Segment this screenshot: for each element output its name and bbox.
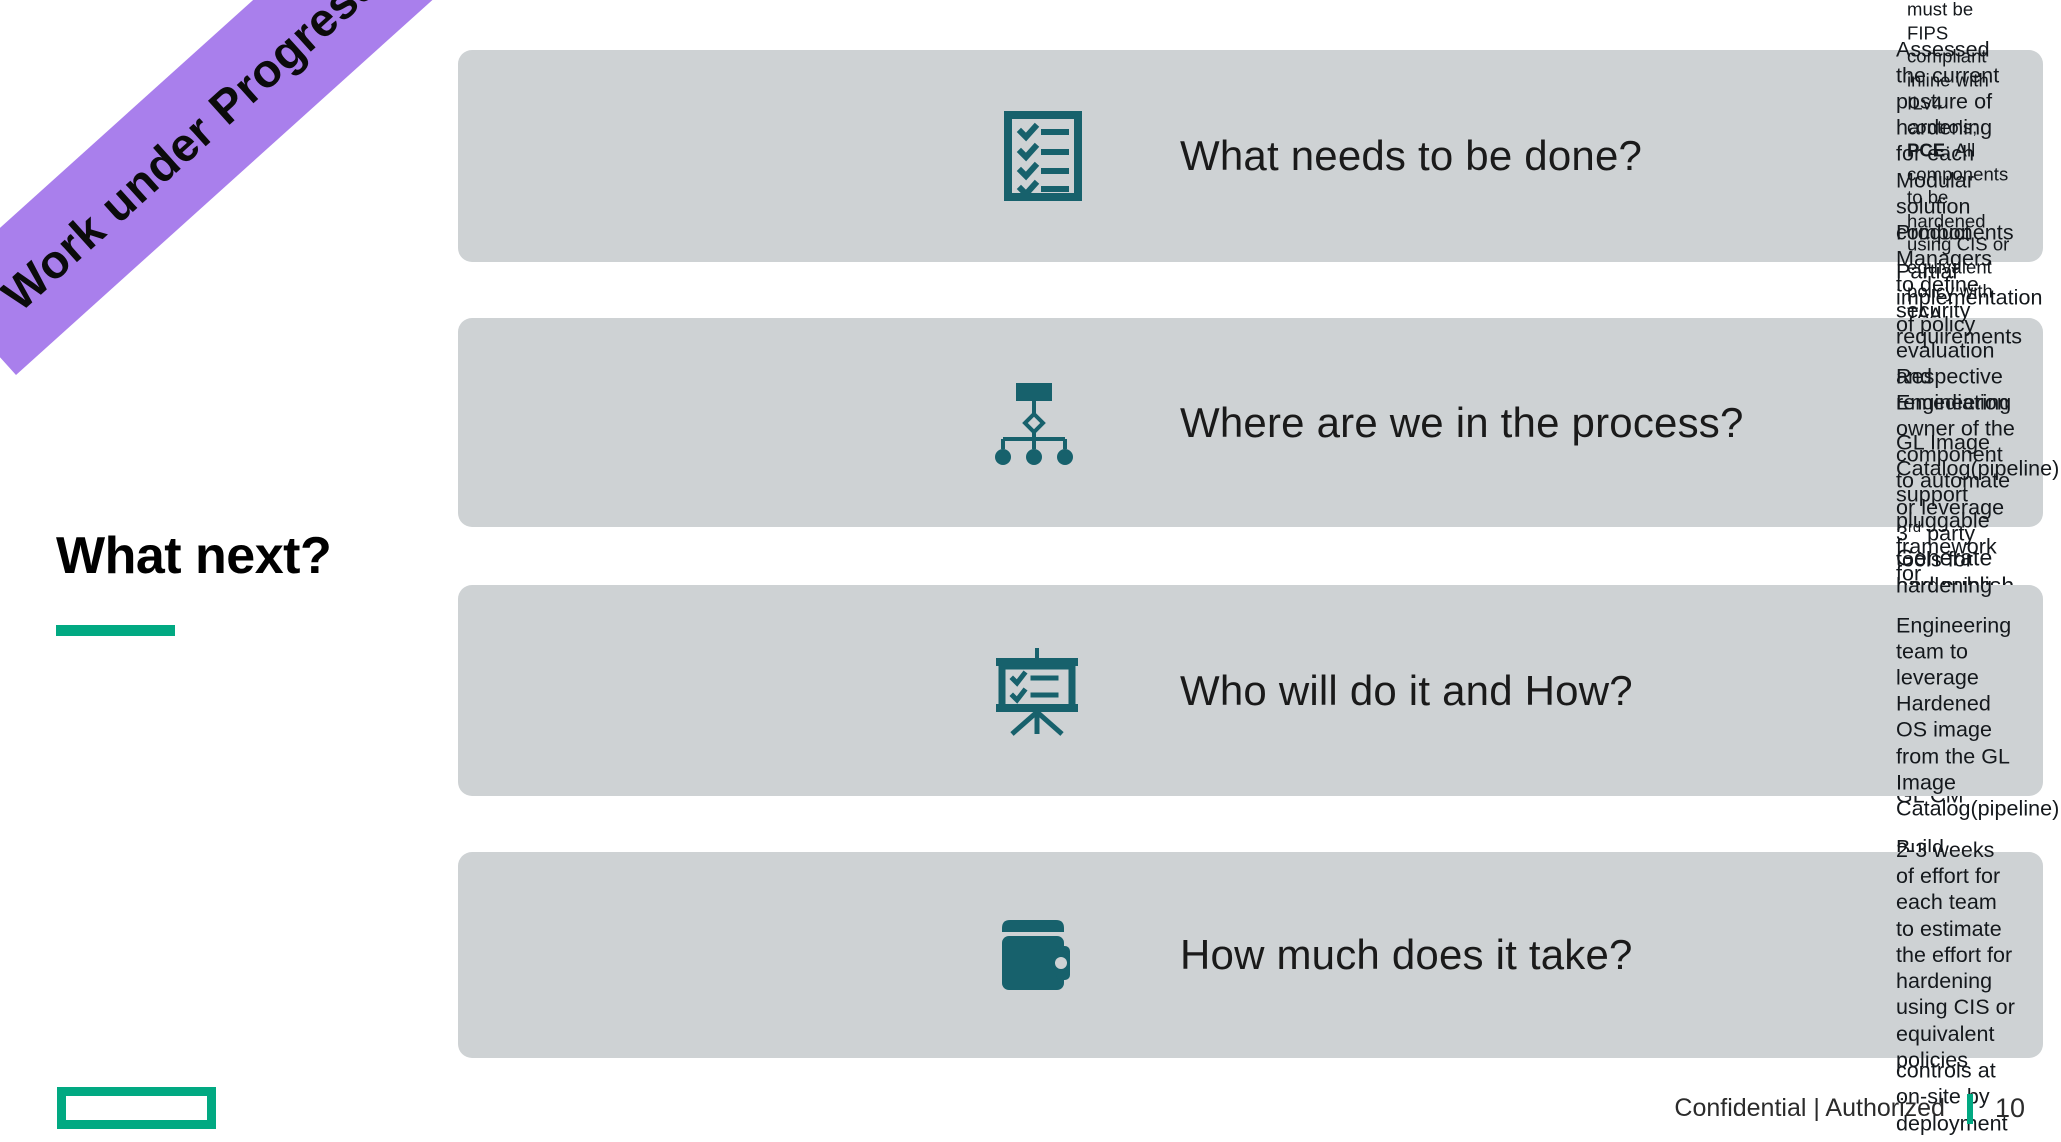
card-points: 2-3 weeks of effort for each team to est… (1896, 837, 2015, 1073)
card-heading: Where are we in the process? (1180, 399, 1744, 447)
checklist-icon (1004, 111, 1082, 201)
org-chart-icon (992, 381, 1076, 465)
card-who-will-do-it-and-how[interactable]: Who will do it and How? Product Managers… (458, 585, 2043, 796)
card-how-much-does-it-take[interactable]: How much does it take? 2-3 weeks of effo… (458, 852, 2043, 1058)
hpe-logo (57, 1087, 216, 1129)
card-where-are-we-in-the-process[interactable]: Where are we in the process? Assessed th… (458, 318, 2043, 527)
card-heading: What needs to be done? (1180, 132, 1642, 180)
card-point: Product Managers to define security requ… (1896, 219, 2015, 350)
presentation-board-icon (992, 646, 1082, 736)
card-what-needs-to-be-done[interactable]: What needs to be done? Define Solution r… (458, 50, 2043, 262)
title-accent-rule (56, 625, 175, 636)
card-point: Engineering team to leverage Hardened OS… (1896, 612, 2015, 822)
confidentiality-label: Confidential | Authorized (1674, 1094, 1945, 1123)
footer: Confidential | Authorized 10 (1674, 1093, 2025, 1124)
work-under-progress-banner: Work under Progress (0, 0, 443, 375)
page-title: What next? (56, 529, 331, 584)
card-point: Respective Engineering owner of the comp… (1896, 363, 2015, 599)
card-heading: Who will do it and How? (1180, 667, 1633, 715)
slide: What next? Work under Progress Wh (0, 0, 2061, 1142)
footer-divider (1967, 1094, 1973, 1124)
wallet-icon (994, 916, 1078, 994)
card-point: Assessed the current posture of hardenin… (1896, 36, 2015, 246)
work-under-progress-label: Work under Progress (0, 0, 389, 321)
card-heading: How much does it take? (1180, 931, 1633, 979)
page-number: 10 (1995, 1093, 2025, 1124)
card-point: 2-3 weeks of effort for each team to est… (1896, 837, 2015, 1073)
